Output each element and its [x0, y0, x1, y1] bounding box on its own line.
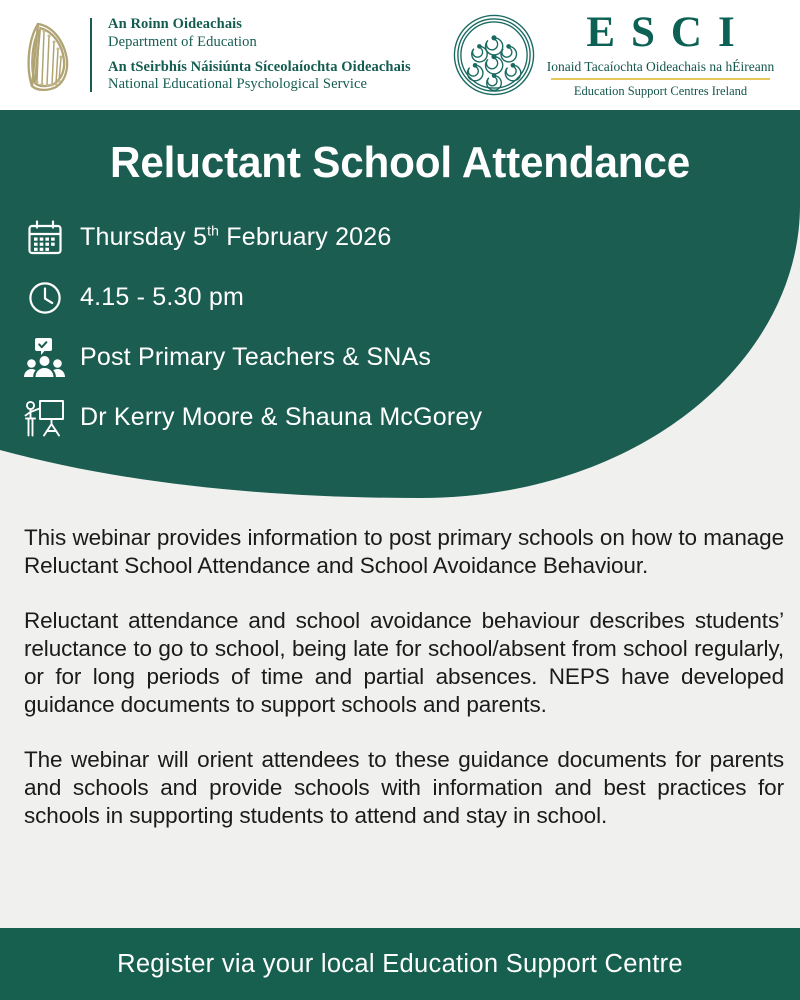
esci-acronym: ESCI	[547, 11, 774, 54]
doe-line2-english: National Educational Psychological Servi…	[108, 76, 411, 94]
irish-harp-icon	[22, 16, 76, 94]
department-logo-text: An Roinn Oideachais Department of Educat…	[108, 16, 411, 94]
doe-line1-english: Department of Education	[108, 34, 411, 52]
description-body: This webinar provides information to pos…	[24, 524, 784, 830]
footer-bar: Register via your local Education Suppor…	[0, 928, 800, 1000]
detail-label-date: Thursday 5th February 2026	[80, 223, 391, 252]
hero-section: Reluctant School Attendance	[0, 110, 800, 455]
esci-logo: ESCI Ionaid Tacaíochta Oideachais na hÉi…	[451, 11, 774, 99]
paragraph-outcomes: The webinar will orient attendees to the…	[24, 746, 784, 830]
department-of-education-logo: An Roinn Oideachais Department of Educat…	[22, 16, 411, 94]
detail-row-time: 4.15 - 5.30 pm	[0, 275, 800, 321]
detail-row-date: Thursday 5th February 2026	[0, 215, 800, 261]
esci-irish-name: Ionaid Tacaíochta Oideachais na hÉireann	[547, 59, 774, 75]
presenter-whiteboard-icon	[22, 395, 68, 441]
audience-group-icon	[22, 335, 68, 381]
doe-line2-irish: An tSeirbhís Náisiúnta Síceolaíochta Oid…	[108, 59, 411, 77]
detail-label-audience: Post Primary Teachers & SNAs	[80, 343, 431, 372]
calendar-icon	[22, 215, 68, 261]
logo-divider	[90, 18, 92, 92]
doe-line1-irish: An Roinn Oideachais	[108, 16, 411, 34]
event-details-list: Thursday 5th February 2026 4.15 - 5.30 p…	[0, 215, 800, 441]
celtic-spirals-circle-icon	[451, 12, 537, 98]
page-title: Reluctant School Attendance	[16, 110, 784, 189]
paragraph-definition: Reluctant attendance and school avoidanc…	[24, 607, 784, 719]
detail-row-presenters: Dr Kerry Moore & Shauna McGorey	[0, 395, 800, 441]
detail-row-audience: Post Primary Teachers & SNAs	[0, 335, 800, 381]
register-call-to-action: Register via your local Education Suppor…	[117, 950, 683, 979]
header-logo-band: An Roinn Oideachais Department of Educat…	[0, 0, 800, 110]
esci-gold-rule	[551, 78, 770, 80]
clock-icon	[22, 275, 68, 321]
poster-root: An Roinn Oideachais Department of Educat…	[0, 0, 800, 1000]
esci-logo-text: ESCI Ionaid Tacaíochta Oideachais na hÉi…	[547, 11, 774, 99]
paragraph-overview: This webinar provides information to pos…	[24, 524, 784, 580]
detail-label-presenters: Dr Kerry Moore & Shauna McGorey	[80, 403, 482, 432]
esci-english-name: Education Support Centres Ireland	[547, 84, 774, 99]
detail-label-time: 4.15 - 5.30 pm	[80, 283, 244, 312]
